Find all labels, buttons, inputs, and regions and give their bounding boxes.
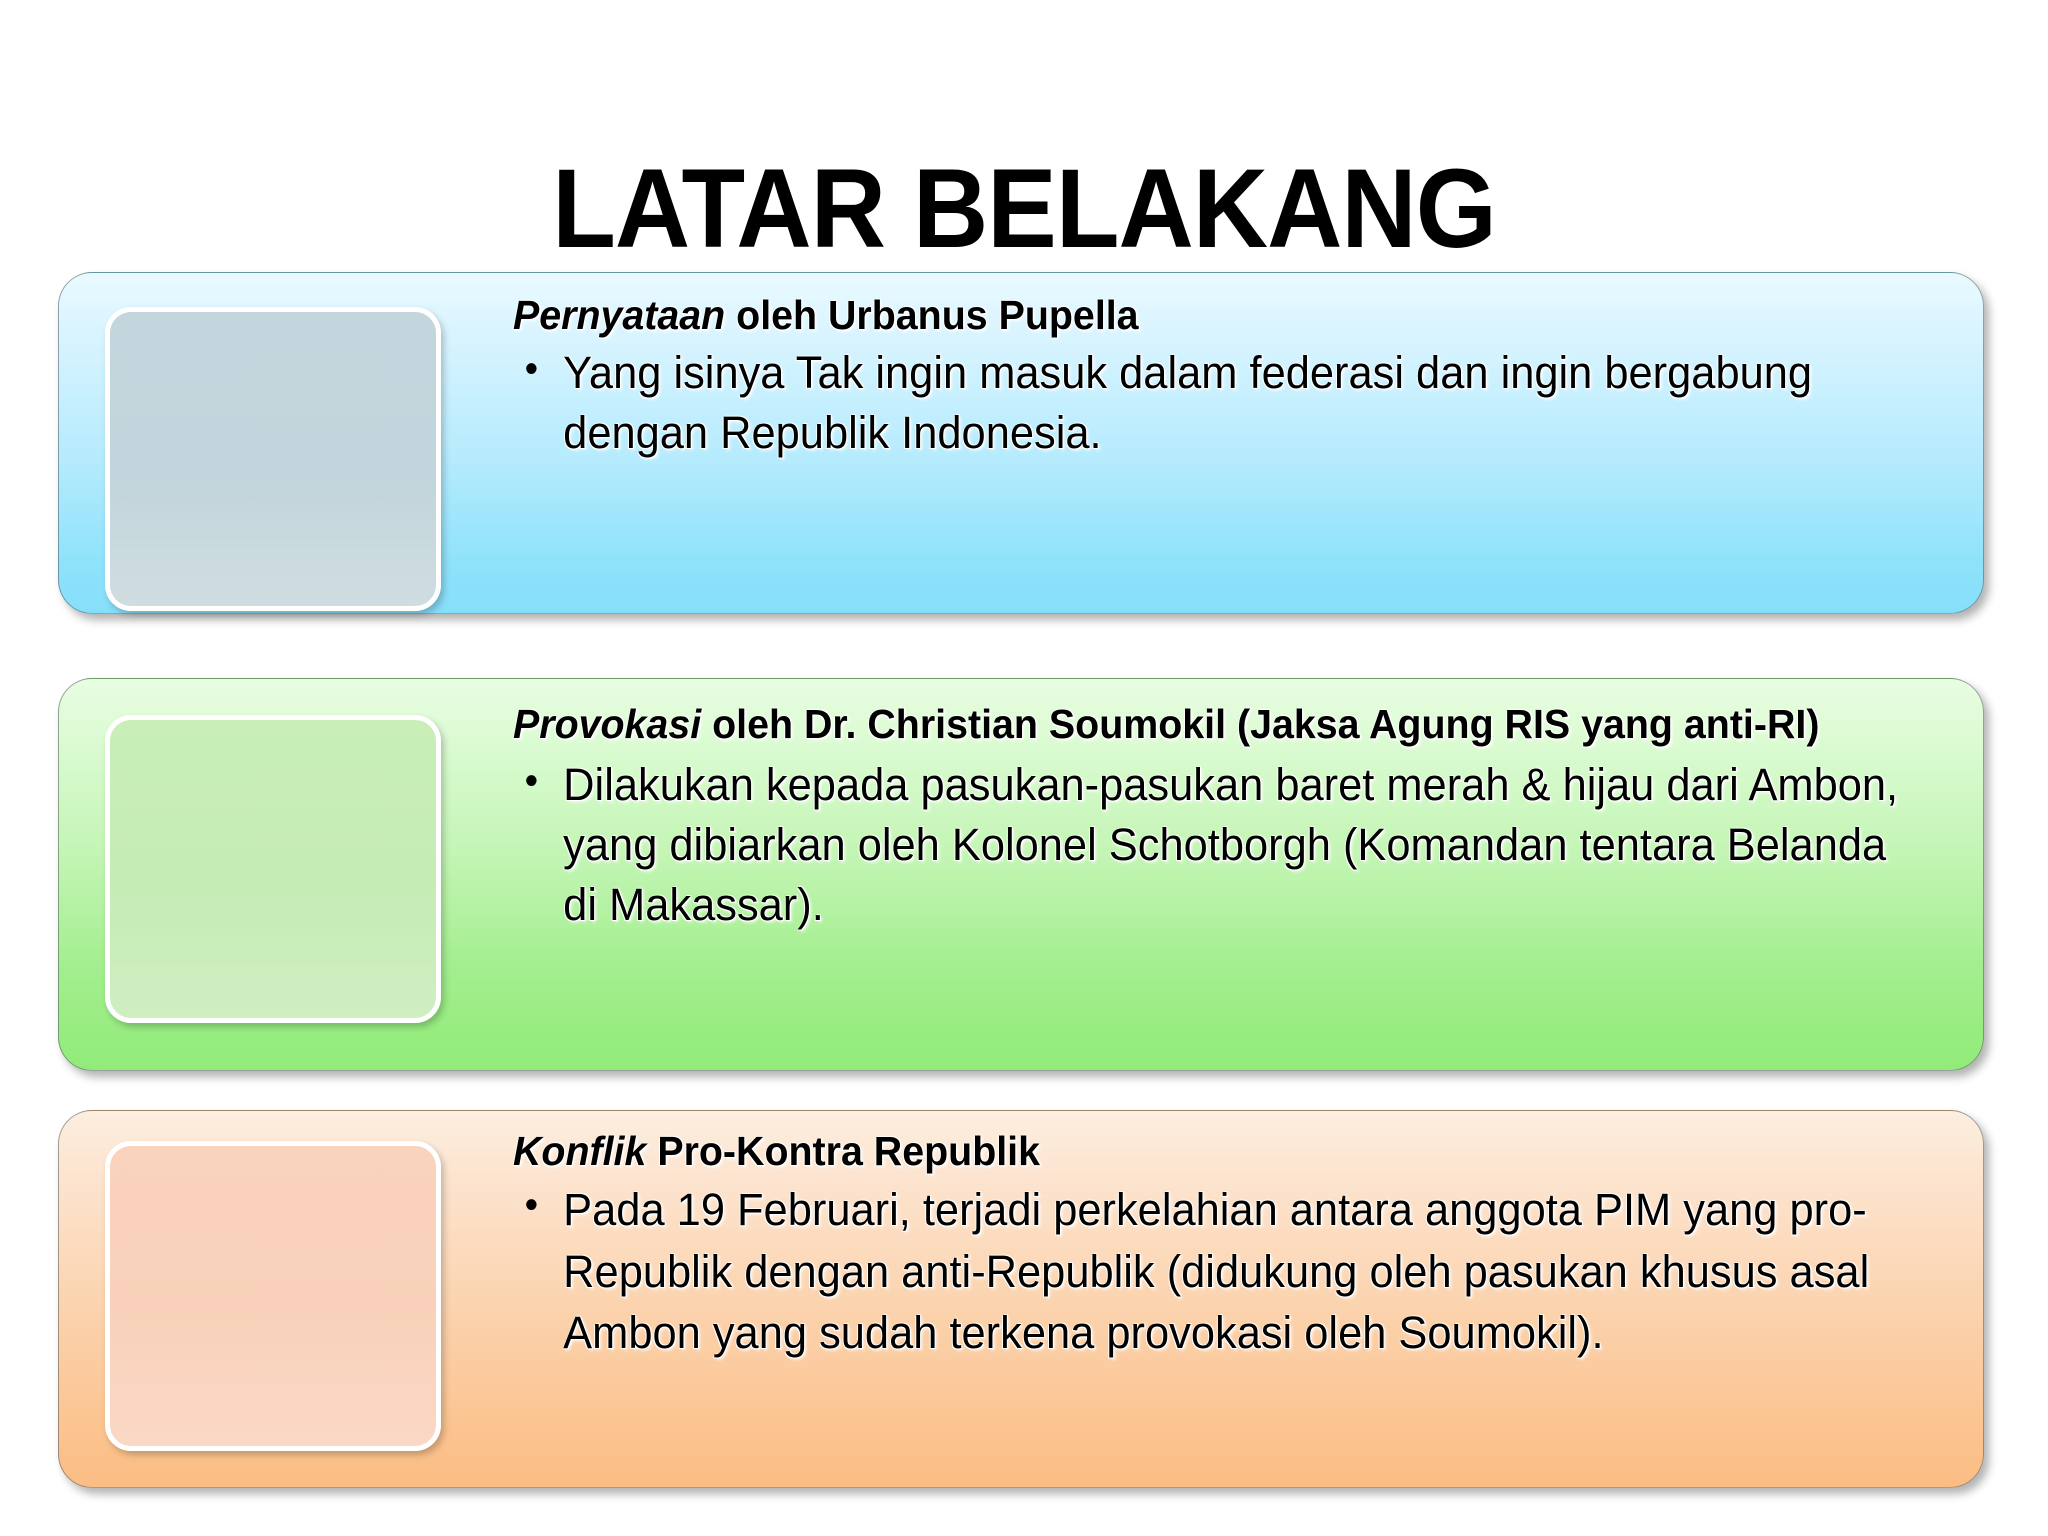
- card-heading-rest: oleh Dr. Christian Soumokil (Jaksa Agung…: [701, 701, 1819, 747]
- image-placeholder-provokasi[interactable]: [105, 715, 441, 1023]
- image-placeholder-konflik[interactable]: [105, 1141, 441, 1451]
- card-heading-rest: oleh Urbanus Pupella: [725, 292, 1138, 338]
- bullet-list-provokasi: Dilakukan kepada pasukan-pasukan baret m…: [513, 755, 1967, 935]
- page-title: LATAR BELAKANG: [72, 153, 1977, 265]
- list-item: Pada 19 Februari, terjadi perkelahian an…: [513, 1179, 1916, 1363]
- card-heading-rest: Pro-Kontra Republik: [646, 1128, 1040, 1174]
- card-heading-konflik: Konflik Pro-Kontra Republik: [513, 1125, 1909, 1177]
- card-heading-emphasis: Pernyataan: [513, 292, 725, 338]
- card-text-column-konflik: Konflik Pro-Kontra Republik Pada 19 Febr…: [513, 1111, 1967, 1487]
- card-text-column-provokasi: Provokasi oleh Dr. Christian Soumokil (J…: [513, 679, 1967, 1070]
- card-text-column-pernyataan: Pernyataan oleh Urbanus Pupella Yang isi…: [513, 273, 1967, 613]
- bullet-list-pernyataan: Yang isinya Tak ingin masuk dalam federa…: [513, 343, 1967, 462]
- card-heading-provokasi: Provokasi oleh Dr. Christian Soumokil (J…: [513, 695, 1909, 753]
- card-heading-pernyataan: Pernyataan oleh Urbanus Pupella: [513, 289, 1909, 341]
- card-heading-emphasis: Konflik: [513, 1128, 646, 1174]
- bullet-list-konflik: Pada 19 Februari, terjadi perkelahian an…: [513, 1179, 1967, 1363]
- presentation-slide: LATAR BELAKANG Pernyataan oleh Urbanus P…: [0, 0, 2048, 1536]
- list-item: Dilakukan kepada pasukan-pasukan baret m…: [513, 755, 1916, 935]
- list-item: Yang isinya Tak ingin masuk dalam federa…: [513, 343, 1916, 462]
- content-card-konflik[interactable]: Konflik Pro-Kontra Republik Pada 19 Febr…: [58, 1110, 1984, 1488]
- content-card-provokasi[interactable]: Provokasi oleh Dr. Christian Soumokil (J…: [58, 678, 1984, 1071]
- image-placeholder-pernyataan[interactable]: [105, 307, 441, 611]
- card-heading-emphasis: Provokasi: [513, 701, 701, 747]
- content-card-pernyataan[interactable]: Pernyataan oleh Urbanus Pupella Yang isi…: [58, 272, 1984, 614]
